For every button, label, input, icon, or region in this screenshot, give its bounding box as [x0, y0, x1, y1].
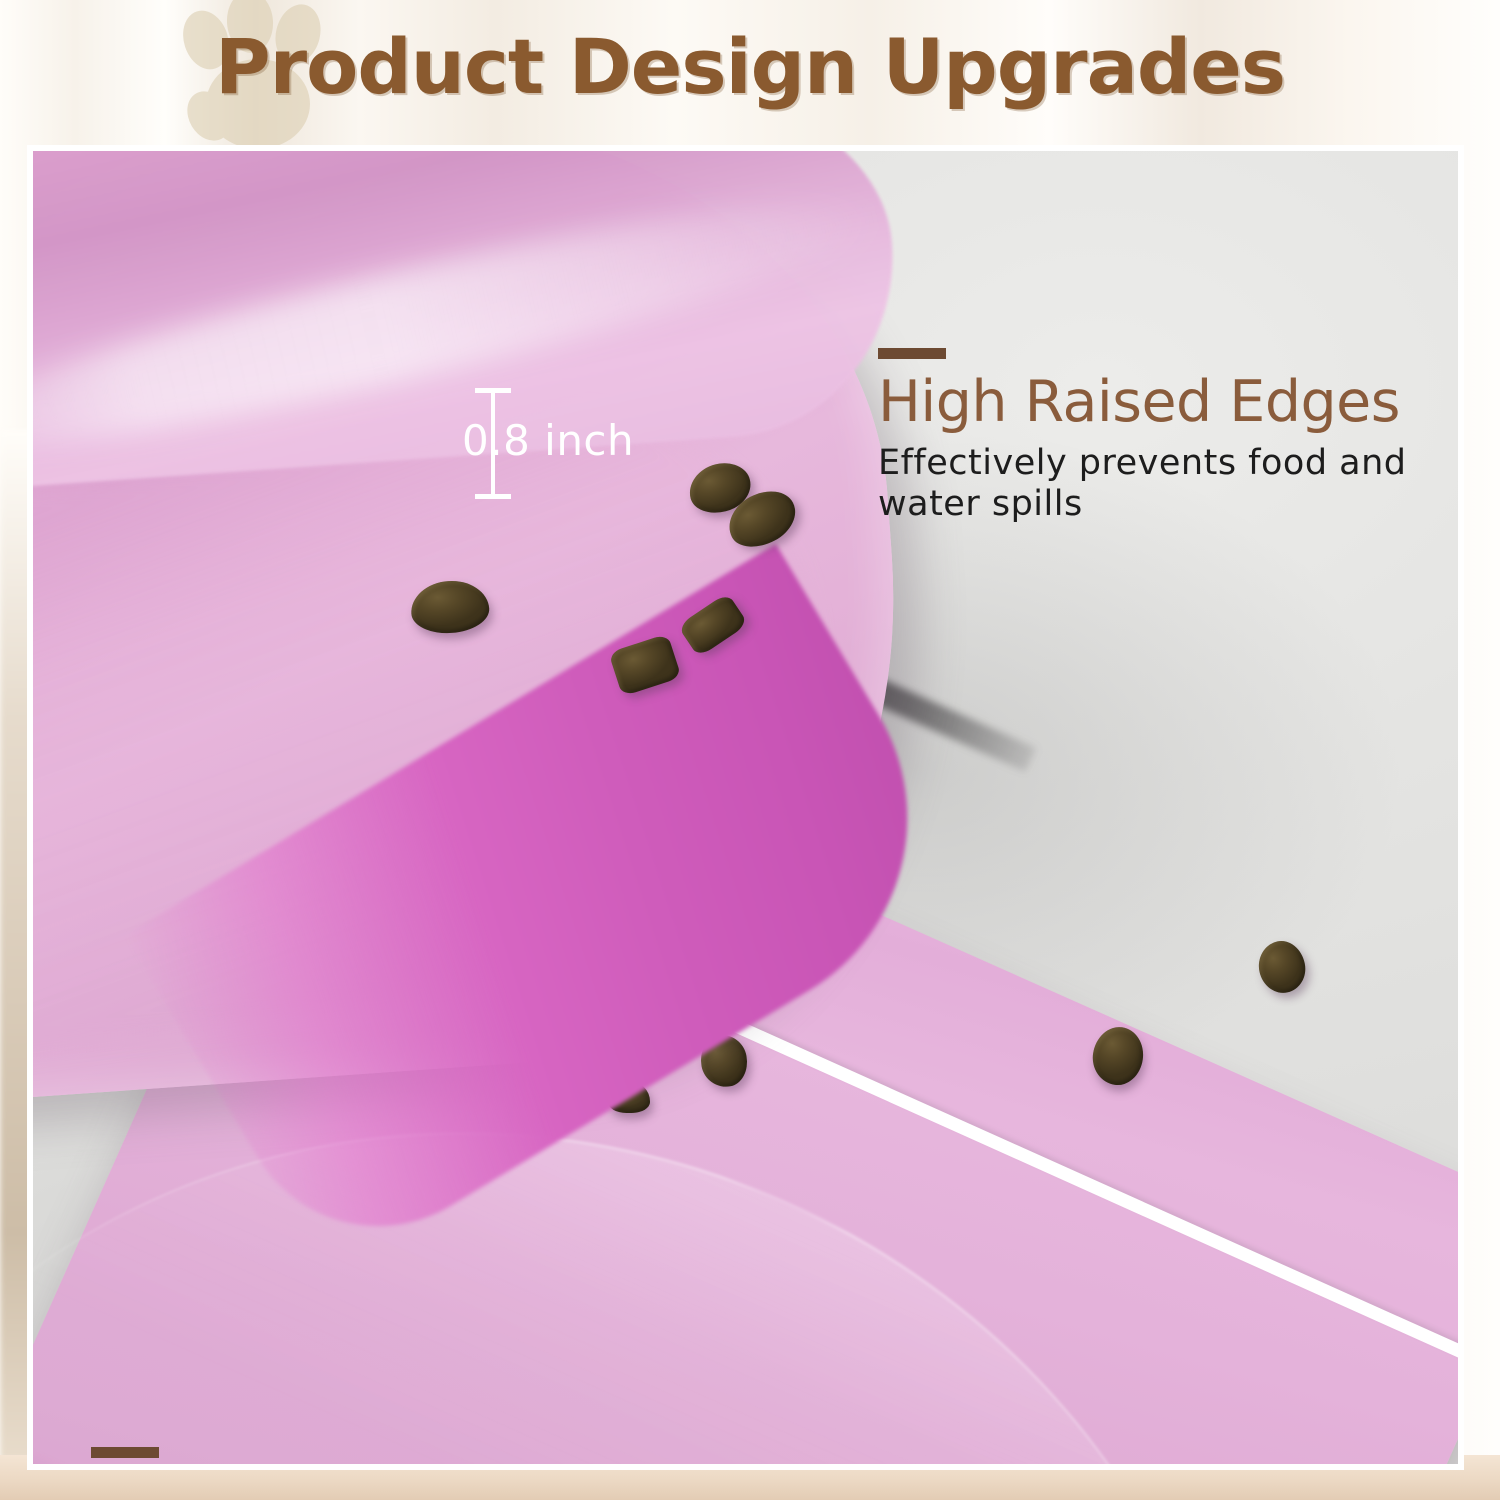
- photo-frame: smilool: [27, 145, 1464, 1470]
- callout-high-raised-edges: High Raised Edges Effectively prevents f…: [878, 348, 1458, 525]
- dimension-callout: 0.8 inch: [465, 383, 645, 503]
- product-infographic: Product Design Upgrades smilool: [0, 0, 1500, 1500]
- callout-keeping-floor-clean: Keeping the floor clean Minimizes time s…: [91, 1447, 1291, 1464]
- accent-bar: [91, 1447, 159, 1458]
- callout-heading: High Raised Edges: [878, 373, 1458, 433]
- page-title: Product Design Upgrades: [0, 22, 1500, 111]
- callout-subtext: Effectively prevents food and water spil…: [878, 443, 1458, 526]
- dimension-label: 0.8 inch: [462, 416, 634, 465]
- dimension-cap-bottom: [475, 494, 511, 499]
- product-photo-composite: smilool: [33, 151, 1458, 1464]
- accent-bar: [878, 348, 946, 359]
- header: Product Design Upgrades: [0, 0, 1500, 145]
